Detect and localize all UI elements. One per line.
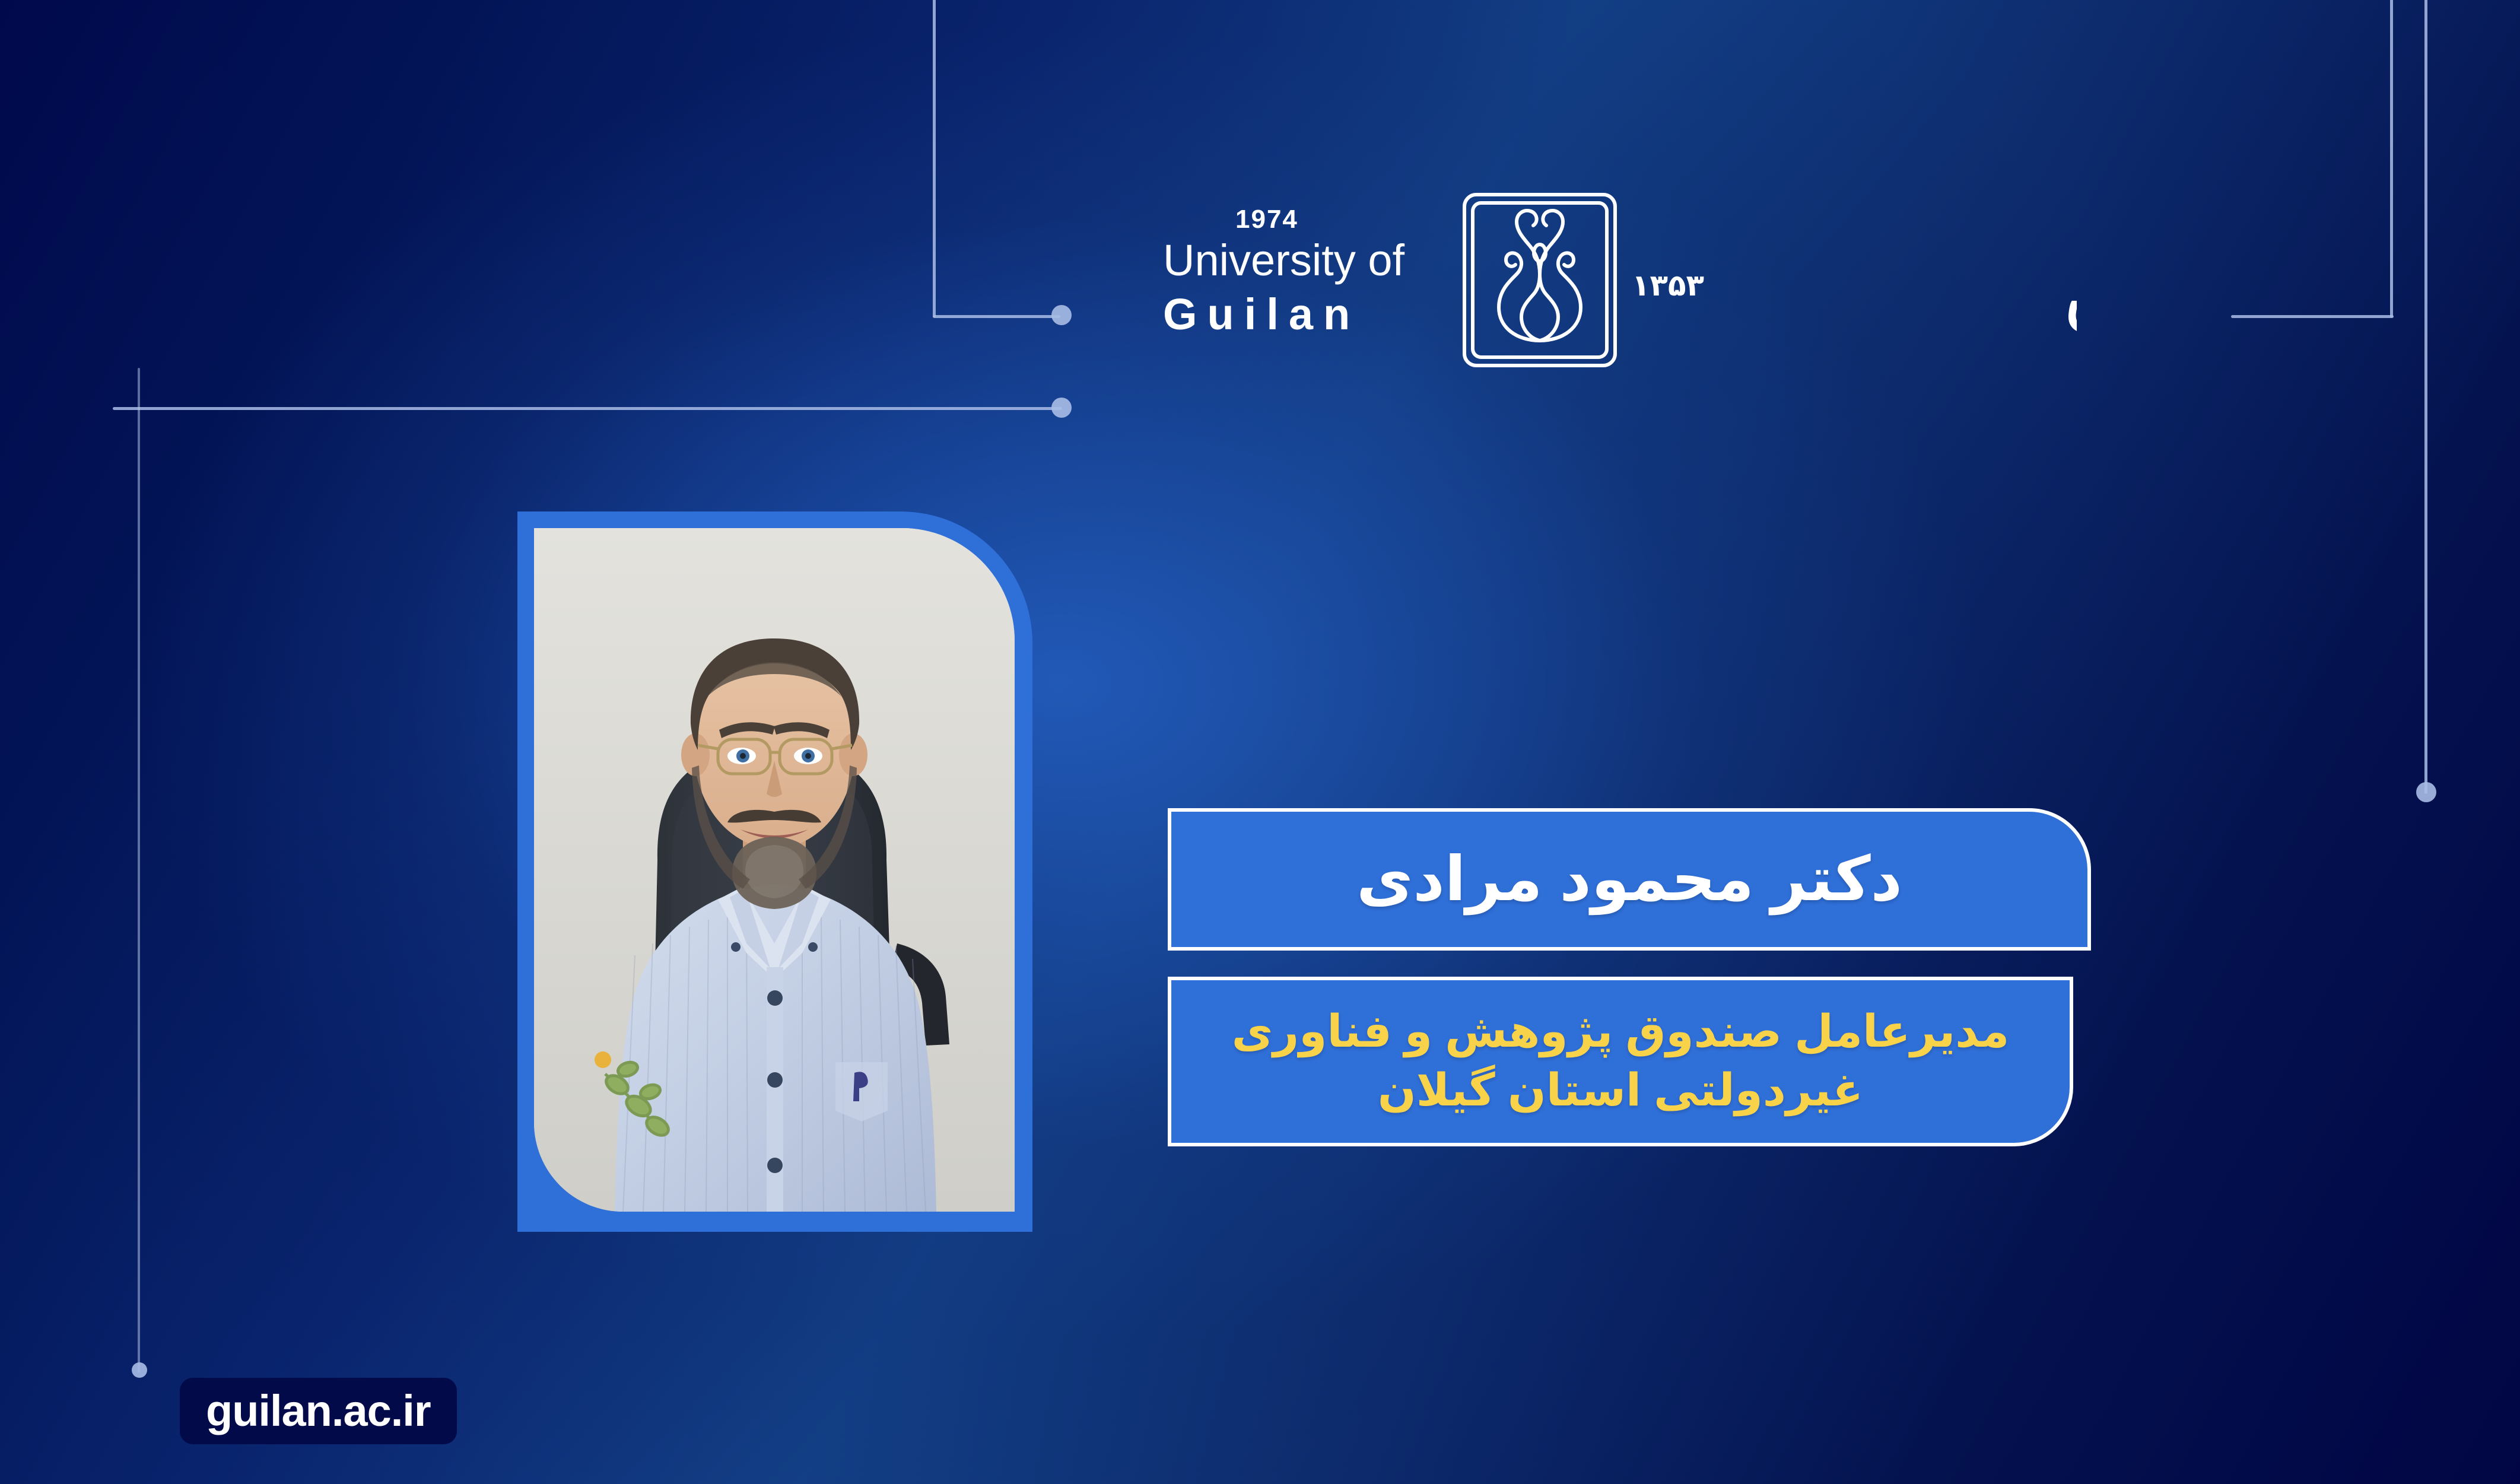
logo-persian-wordmark: دانشگاه گیلان xyxy=(1715,208,2077,362)
speaker-title-banner: مدیرعامل صندوق پژوهش و فناوری غیردولتی ا… xyxy=(1168,977,2073,1146)
portrait-frame xyxy=(517,511,1032,1232)
website-url: guilan.ac.ir xyxy=(206,1389,431,1433)
logo-year-persian: ۱۳۵۳ xyxy=(1632,268,1704,303)
website-badge[interactable]: guilan.ac.ir xyxy=(180,1378,457,1444)
logo-year-gregorian: 1974 xyxy=(1235,206,1442,233)
guilan-emblem-icon xyxy=(1460,191,1620,369)
decor-line-left-vertical xyxy=(138,368,140,1373)
decor-line-upper-left-horizontal xyxy=(113,407,1062,410)
portrait-illustration xyxy=(534,528,1015,1212)
decor-line-top-center-horizontal xyxy=(933,315,1060,318)
decor-dot-top-center xyxy=(1051,305,1072,325)
decor-line-right-vertical-short xyxy=(2390,0,2393,317)
decor-dot-lower-left xyxy=(132,1362,147,1378)
decor-dot-upper-left xyxy=(1051,398,1072,418)
speaker-name-banner: دکتر محمود مرادی xyxy=(1168,808,2091,951)
decor-line-top-center-vertical xyxy=(933,0,936,317)
university-logo: 1974 University of Guilan ۱۳۵۳ xyxy=(1163,196,2077,398)
speaker-name: دکتر محمود مرادی xyxy=(1356,846,1902,913)
speaker-title: مدیرعامل صندوق پژوهش و فناوری غیردولتی ا… xyxy=(1199,1003,2042,1120)
logo-english-block: 1974 University of Guilan xyxy=(1163,206,1442,339)
decor-line-right-vertical-long xyxy=(2424,0,2427,794)
logo-english-line2: Guilan xyxy=(1163,289,1442,339)
decor-line-right-horizontal xyxy=(2231,315,2394,318)
poster-canvas: 1974 University of Guilan ۱۳۵۳ xyxy=(0,0,2520,1484)
decor-dot-right xyxy=(2416,782,2436,802)
svg-text:دانشگاه گیلان: دانشگاه گیلان xyxy=(2060,244,2077,341)
logo-english-line1: University of xyxy=(1163,236,1442,285)
portrait-image xyxy=(534,528,1015,1212)
